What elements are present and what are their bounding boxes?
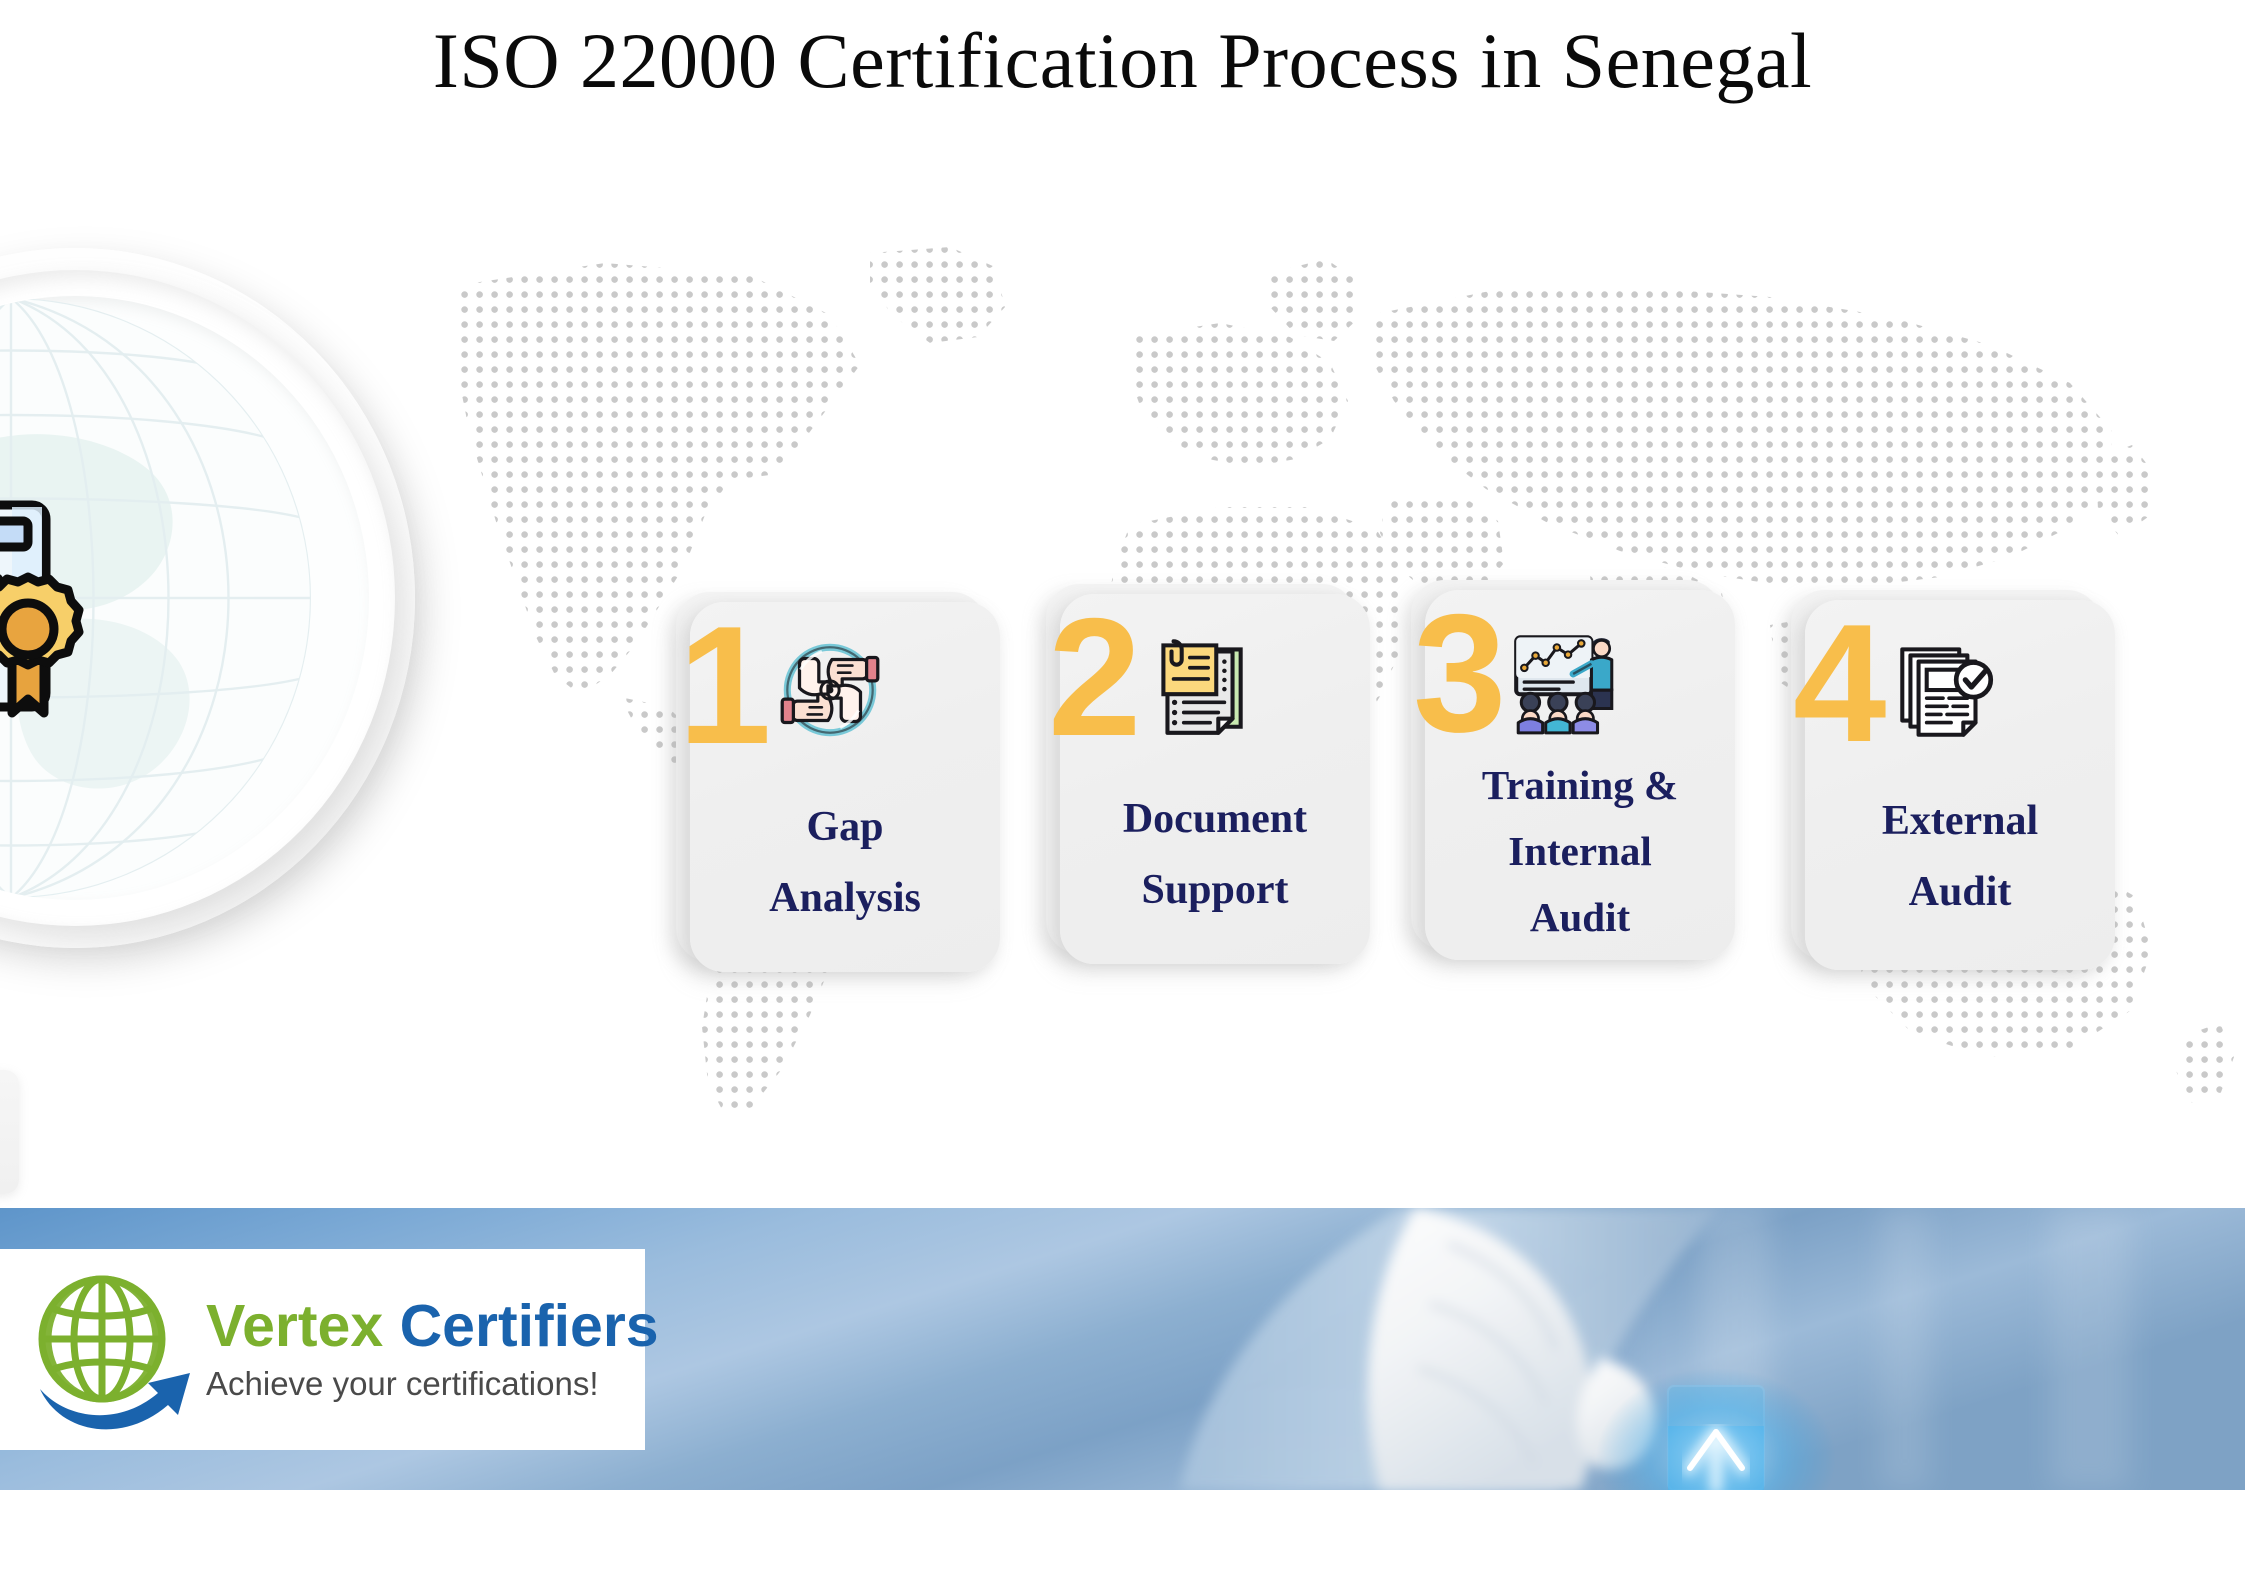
brand-word-vertex: Vertex: [206, 1293, 383, 1359]
brand-word-certifiers: Certifiers: [400, 1293, 659, 1359]
brand-tagline: Achieve your certifications!: [206, 1365, 659, 1403]
iso-certification-badge: ISO Certification: [0, 1070, 19, 1194]
step-number: 3: [1413, 589, 1502, 757]
step-card-label: Document Support: [1060, 794, 1370, 916]
step-card-header: 2: [1060, 594, 1370, 766]
certificate-award-icon: [0, 481, 88, 731]
hero-ring-inner: [0, 296, 369, 900]
step-card-gap-analysis[interactable]: 1: [690, 602, 1000, 972]
step-label-line2: Audit: [1813, 867, 2107, 918]
step-card-label: Gap Analysis: [690, 802, 1000, 924]
step-label-line2: Internal: [1433, 826, 1727, 876]
vertex-certifiers-logo: Vertex Certifiers Achieve your certifica…: [0, 1249, 645, 1450]
bottom-white-strip: [0, 1490, 2245, 1587]
step-card-label: Training & Internal Audit: [1425, 760, 1735, 942]
vertex-globe-arrow-logo-icon: [22, 1267, 200, 1433]
step-card-training-internal-audit[interactable]: 3: [1425, 590, 1735, 960]
step-number: 4: [1793, 599, 1882, 767]
step-number: 2: [1048, 593, 1137, 761]
step-card-document-support[interactable]: 2: [1060, 594, 1370, 964]
step-label-line1: Document: [1068, 794, 1362, 845]
main-content-panel: ISO Certification 1: [0, 120, 2245, 1208]
logo-text-block: Vertex Certifiers Achieve your certifica…: [206, 1297, 659, 1403]
step-label-line1: Gap: [698, 802, 992, 853]
step-label-line2: Analysis: [698, 873, 992, 924]
four-hands-teamwork-icon: [769, 629, 891, 751]
step-card-header: 4: [1805, 600, 2115, 772]
training-presentation-icon: [1504, 617, 1626, 739]
process-steps: 1: [690, 590, 2210, 1010]
iso-badge-line2: Certification: [0, 1130, 9, 1176]
step-number: 1: [678, 601, 767, 769]
step-card-external-audit[interactable]: 4: [1805, 600, 2115, 970]
brand-name: Vertex Certifiers: [206, 1297, 659, 1356]
iso-badge-line1: ISO: [0, 1084, 9, 1130]
step-card-label: External Audit: [1805, 796, 2115, 918]
infographic-canvas: ISO 22000 Certification Process in Seneg…: [0, 0, 2245, 1587]
step-label-line1: Training &: [1433, 760, 1727, 810]
step-label-line3: Audit: [1433, 892, 1727, 942]
step-card-header: 3: [1425, 590, 1735, 762]
iso-certification-hero: ISO Certification: [0, 248, 415, 948]
step-label-line1: External: [1813, 796, 2107, 847]
step-card-header: 1: [690, 602, 1000, 774]
document-stack-check-icon: [1884, 627, 2006, 749]
page-title: ISO 22000 Certification Process in Seneg…: [0, 22, 2245, 100]
step-label-line2: Support: [1068, 865, 1362, 916]
clipboard-documents-icon: [1139, 621, 1261, 743]
